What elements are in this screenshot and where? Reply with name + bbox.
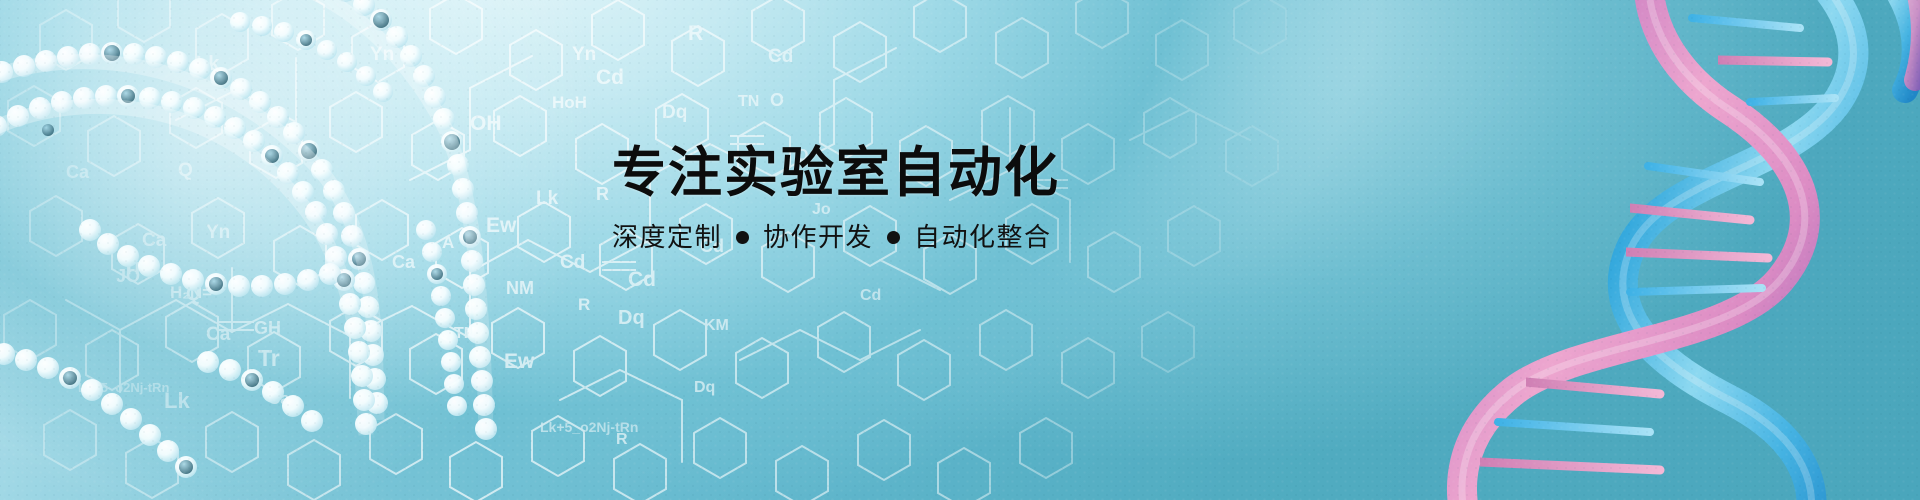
svg-text:Cd: Cd [596, 66, 624, 89]
svg-text:Lk: Lk [196, 53, 220, 75]
svg-text:Tr: Tr [258, 345, 280, 371]
svg-text:Cd: Cd [628, 268, 656, 291]
bullet-dot-icon [736, 231, 749, 244]
svg-text:R: R [616, 431, 628, 448]
svg-text:Lk: Lk [164, 388, 190, 413]
svg-text:Ca: Ca [66, 162, 90, 182]
svg-text:JO: JO [116, 266, 140, 286]
svg-text:Lk: Lk [536, 188, 559, 209]
dna-double-helix-artwork [1330, 0, 1920, 500]
svg-text:R: R [688, 22, 703, 45]
svg-text:Cd: Cd [860, 287, 881, 304]
svg-text:TN: TN [738, 93, 759, 110]
subtitle-item-2: 协作开发 [763, 222, 873, 253]
svg-text:Ca: Ca [142, 230, 167, 251]
banner-headline: 专注实验室自动化 [612, 144, 1312, 202]
svg-text:H₂N=: H₂N= [170, 283, 212, 302]
svg-text:Lk+5_o2Nj-tRn: Lk+5_o2Nj-tRn [78, 380, 169, 395]
subtitle-item-1: 深度定制 [612, 222, 722, 253]
hero-banner: Tr Tr JO Q Q H₂N= Lk+5_o2Nj-tRn Lk Ca GH… [0, 0, 1920, 500]
svg-text:NM: NM [506, 278, 534, 298]
svg-text:Dq: Dq [618, 307, 645, 329]
svg-text:Yn: Yn [206, 222, 230, 243]
svg-text:R: R [596, 184, 609, 204]
svg-text:Yn: Yn [370, 44, 394, 65]
subtitle-item-3: 自动化整合 [914, 222, 1052, 253]
svg-text:Ca: Ca [206, 324, 231, 345]
svg-text:Lk+5_o2Nj-tRn: Lk+5_o2Nj-tRn [540, 419, 638, 435]
svg-text:O: O [770, 90, 784, 110]
bullet-dot-icon [887, 231, 900, 244]
svg-text:Yn: Yn [572, 44, 596, 65]
svg-text:GH: GH [254, 318, 281, 338]
svg-text:A: A [442, 233, 454, 252]
svg-text:OH: OH [470, 112, 502, 135]
svg-text:Dq: Dq [694, 379, 715, 396]
svg-text:Dq: Dq [662, 102, 687, 123]
svg-text:Ew: Ew [504, 350, 535, 373]
svg-text:Ew: Ew [486, 214, 517, 237]
svg-text:R: R [578, 295, 590, 314]
svg-text:Cd: Cd [768, 46, 793, 67]
svg-text:Ca: Ca [392, 252, 416, 272]
svg-text:Q: Q [186, 284, 201, 305]
svg-text:Cd: Cd [560, 252, 585, 273]
banner-copy: 专注实验室自动化 深度定制 协作开发 自动化整合 [612, 144, 1312, 254]
svg-text:Q: Q [178, 160, 193, 181]
banner-subtitle: 深度定制 协作开发 自动化整合 [612, 222, 1312, 253]
svg-text:TN: TN [454, 325, 475, 342]
svg-text:KM: KM [704, 317, 729, 334]
left-highlight-glow [0, 0, 620, 500]
svg-text:Tr: Tr [122, 254, 143, 279]
svg-text:HoH: HoH [552, 93, 587, 112]
svg-text:Ca: Ca [268, 389, 290, 408]
